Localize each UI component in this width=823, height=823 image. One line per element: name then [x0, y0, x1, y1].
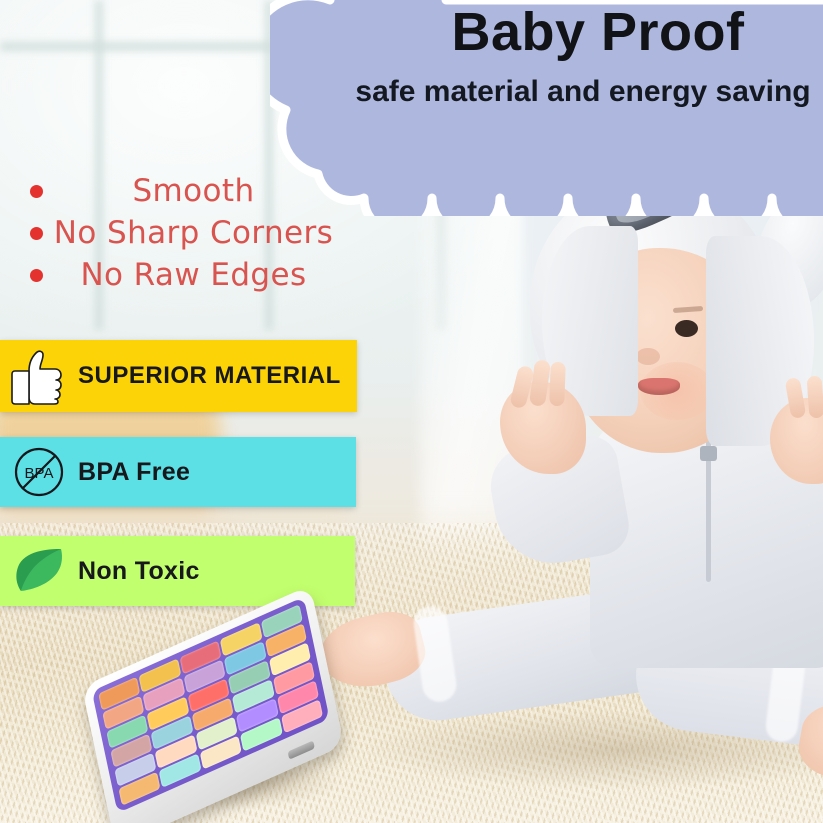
- badge-bpa-free: BPA BPA Free: [0, 437, 356, 507]
- badge-label: SUPERIOR MATERIAL: [78, 362, 341, 390]
- bullet-label: No Raw Edges: [43, 257, 344, 293]
- promo-image: Baby Proof safe material and energy savi…: [0, 0, 823, 823]
- product-toy-phone: [88, 636, 358, 816]
- bpa-free-icon: BPA: [0, 437, 78, 507]
- baby-mouth: [638, 378, 680, 395]
- page-subtitle: safe material and energy saving: [355, 75, 810, 109]
- bullet-label: Smooth: [43, 173, 344, 209]
- feature-bullet-list: Smooth No Sharp Corners No Raw Edges: [14, 170, 344, 296]
- onesie-zipper-tab: [700, 446, 717, 461]
- badge-label: Non Toxic: [78, 557, 200, 586]
- bullet-dot-icon: [30, 269, 43, 282]
- list-item: No Raw Edges: [14, 254, 344, 296]
- bullet-label: No Sharp Corners: [43, 215, 344, 251]
- cloud-header: Baby Proof safe material and energy savi…: [270, 0, 823, 216]
- bpa-icon-text: BPA: [25, 465, 54, 482]
- list-item: Smooth: [14, 170, 344, 212]
- cloud-text-block: Baby Proof safe material and energy savi…: [270, 0, 823, 216]
- baby-finger: [549, 362, 566, 406]
- page-title: Baby Proof: [451, 4, 744, 61]
- thumbs-up-icon: [0, 340, 78, 412]
- baby-nose: [636, 348, 660, 365]
- bullet-dot-icon: [30, 227, 43, 240]
- baby-finger: [807, 376, 823, 419]
- list-item: No Sharp Corners: [14, 212, 344, 254]
- baby-eye-right: [675, 320, 698, 337]
- bullet-dot-icon: [30, 185, 43, 198]
- leaf-icon: [0, 536, 78, 606]
- badge-label: BPA Free: [78, 458, 190, 487]
- baby-photo-subject: [470, 150, 823, 770]
- badge-superior-material: SUPERIOR MATERIAL: [0, 340, 357, 412]
